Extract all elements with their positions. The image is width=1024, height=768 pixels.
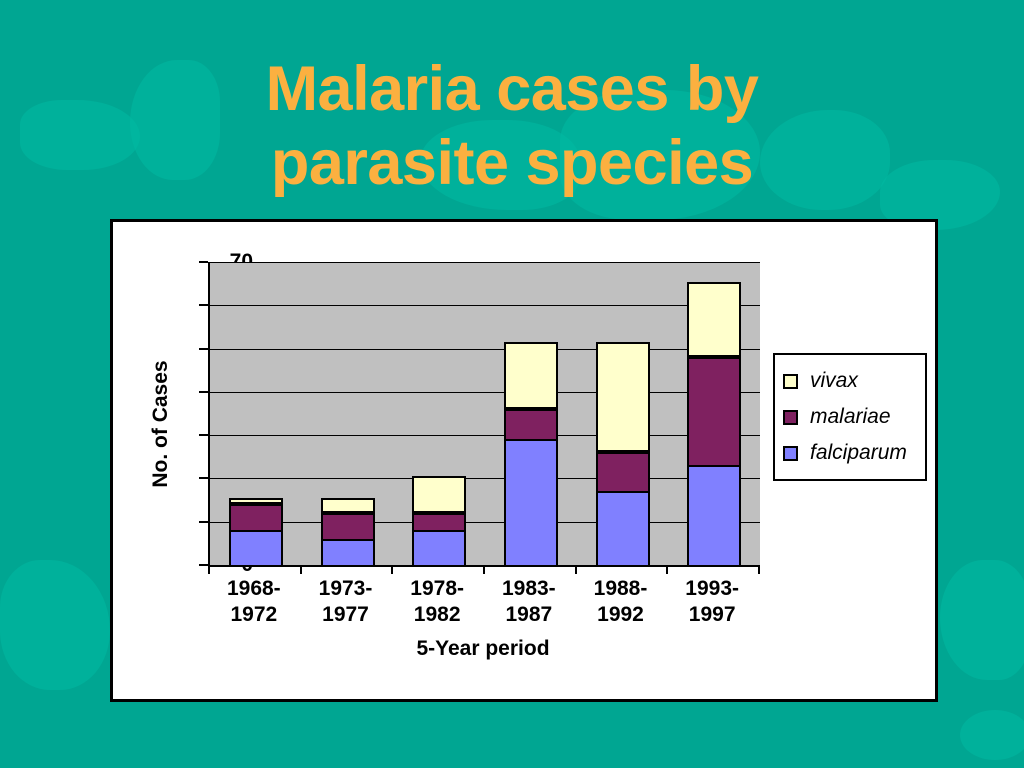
bar-stack[interactable] [596,342,650,565]
y-tick-mark [199,391,208,393]
bar-segment-vivax[interactable] [687,282,741,358]
chart-panel: No. of Cases 010203040506070 1968- 19721… [110,219,938,702]
y-axis-title: No. of Cases [149,304,173,544]
gridline [210,349,760,350]
bar-segment-malariae[interactable] [596,452,650,493]
x-tick-mark [758,565,760,574]
y-tick-mark [199,434,208,436]
bar-segment-vivax[interactable] [321,498,375,513]
bar-segment-vivax[interactable] [504,342,558,409]
bar-segment-falciparum[interactable] [504,439,558,567]
bar-segment-malariae[interactable] [321,513,375,541]
y-tick-mark [199,477,208,479]
x-tick-mark [575,565,577,574]
y-tick-mark [199,564,208,566]
x-tick-mark [483,565,485,574]
legend-swatch-icon [783,374,798,389]
legend-label: falciparum [810,441,907,465]
page-title: Malaria cases by parasite species [0,52,1024,200]
x-tick-mark [208,565,210,574]
x-tick-label: 1993- 1997 [657,576,767,628]
legend-swatch-icon [783,446,798,461]
gridline [210,305,760,306]
bar-segment-falciparum[interactable] [687,465,741,567]
bar-segment-falciparum[interactable] [229,530,283,567]
legend-label: vivax [810,369,858,393]
legend-item-vivax[interactable]: vivax [783,363,919,399]
bar-stack[interactable] [687,282,741,565]
bar-segment-falciparum[interactable] [412,530,466,567]
bar-stack[interactable] [229,498,283,565]
bar-stack[interactable] [504,342,558,565]
plot-area [208,262,760,565]
bar-segment-malariae[interactable] [504,409,558,441]
bar-segment-malariae[interactable] [229,504,283,532]
legend-item-malariae[interactable]: malariae [783,399,919,435]
y-tick-mark [199,348,208,350]
y-tick-mark [199,521,208,523]
x-tick-mark [391,565,393,574]
y-tick-mark [199,261,208,263]
y-tick-mark [199,304,208,306]
bar-segment-falciparum[interactable] [321,539,375,567]
x-axis-title: 5-Year period [208,637,758,661]
bar-segment-malariae[interactable] [687,357,741,467]
chart-legend: vivaxmalariaefalciparum [773,353,927,481]
gridline [210,478,760,479]
gridline [210,392,760,393]
bar-segment-vivax[interactable] [412,476,466,513]
bar-stack[interactable] [321,498,375,565]
legend-label: malariae [810,405,891,429]
legend-item-falciparum[interactable]: falciparum [783,435,919,471]
bar-segment-falciparum[interactable] [596,491,650,567]
gridline [210,435,760,436]
bar-stack[interactable] [412,476,466,565]
legend-swatch-icon [783,410,798,425]
bar-segment-vivax[interactable] [596,342,650,452]
x-tick-mark [666,565,668,574]
world-map-decoration [0,560,110,690]
world-map-decoration [940,560,1024,680]
x-tick-mark [300,565,302,574]
world-map-decoration [960,710,1024,760]
gridline [210,262,760,263]
gridline [210,522,760,523]
